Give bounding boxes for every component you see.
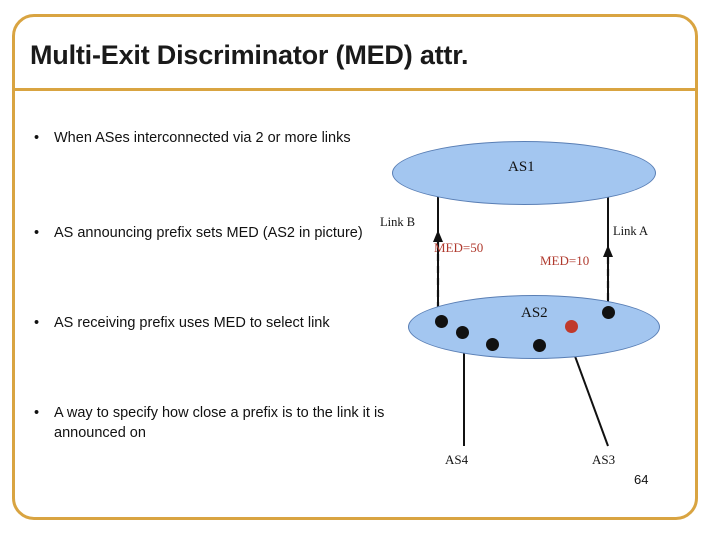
network-diagram: AS1 AS2 Link B Link A MED=50 MED=10 AS4 …: [380, 130, 680, 490]
bullet-text: AS announcing prefix sets MED (AS2 in pi…: [54, 225, 363, 241]
bullet-marker-icon: •: [34, 313, 39, 333]
as4-label: AS4: [445, 452, 468, 468]
bullet-marker-icon: •: [34, 128, 39, 148]
page-title: Multi-Exit Discriminator (MED) attr.: [30, 40, 670, 71]
as2-label: AS2: [521, 305, 548, 322]
list-item: • AS announcing prefix sets MED (AS2 in …: [28, 223, 404, 243]
bullet-text: When ASes interconnected via 2 or more l…: [54, 130, 351, 146]
list-item: • A way to specify how close a prefix is…: [28, 403, 414, 443]
med-50-label: MED=50: [434, 240, 483, 256]
router-node: [602, 306, 615, 319]
link-b-label: Link B: [380, 215, 415, 230]
link-a-label: Link A: [613, 224, 648, 239]
bullet-text: A way to specify how close a prefix is t…: [54, 405, 384, 441]
router-node: [456, 326, 469, 339]
as2-as3-line: [572, 348, 608, 446]
router-node: [435, 315, 448, 328]
as3-label: AS3: [592, 452, 615, 468]
router-node: [486, 338, 499, 351]
page-number: 64: [634, 472, 648, 487]
router-node-highlighted: [565, 320, 578, 333]
slide: Multi-Exit Discriminator (MED) attr. • W…: [0, 0, 720, 540]
as1-label: AS1: [508, 159, 535, 176]
router-node: [533, 339, 546, 352]
bullet-marker-icon: •: [34, 223, 39, 243]
arrow-up-right-icon: [603, 245, 613, 257]
title-divider: [15, 88, 695, 91]
bullet-text: AS receiving prefix uses MED to select l…: [54, 315, 330, 331]
med-10-label: MED=10: [540, 253, 589, 269]
list-item: • When ASes interconnected via 2 or more…: [28, 128, 404, 148]
bullet-marker-icon: •: [34, 403, 39, 423]
list-item: • AS receiving prefix uses MED to select…: [28, 313, 404, 333]
